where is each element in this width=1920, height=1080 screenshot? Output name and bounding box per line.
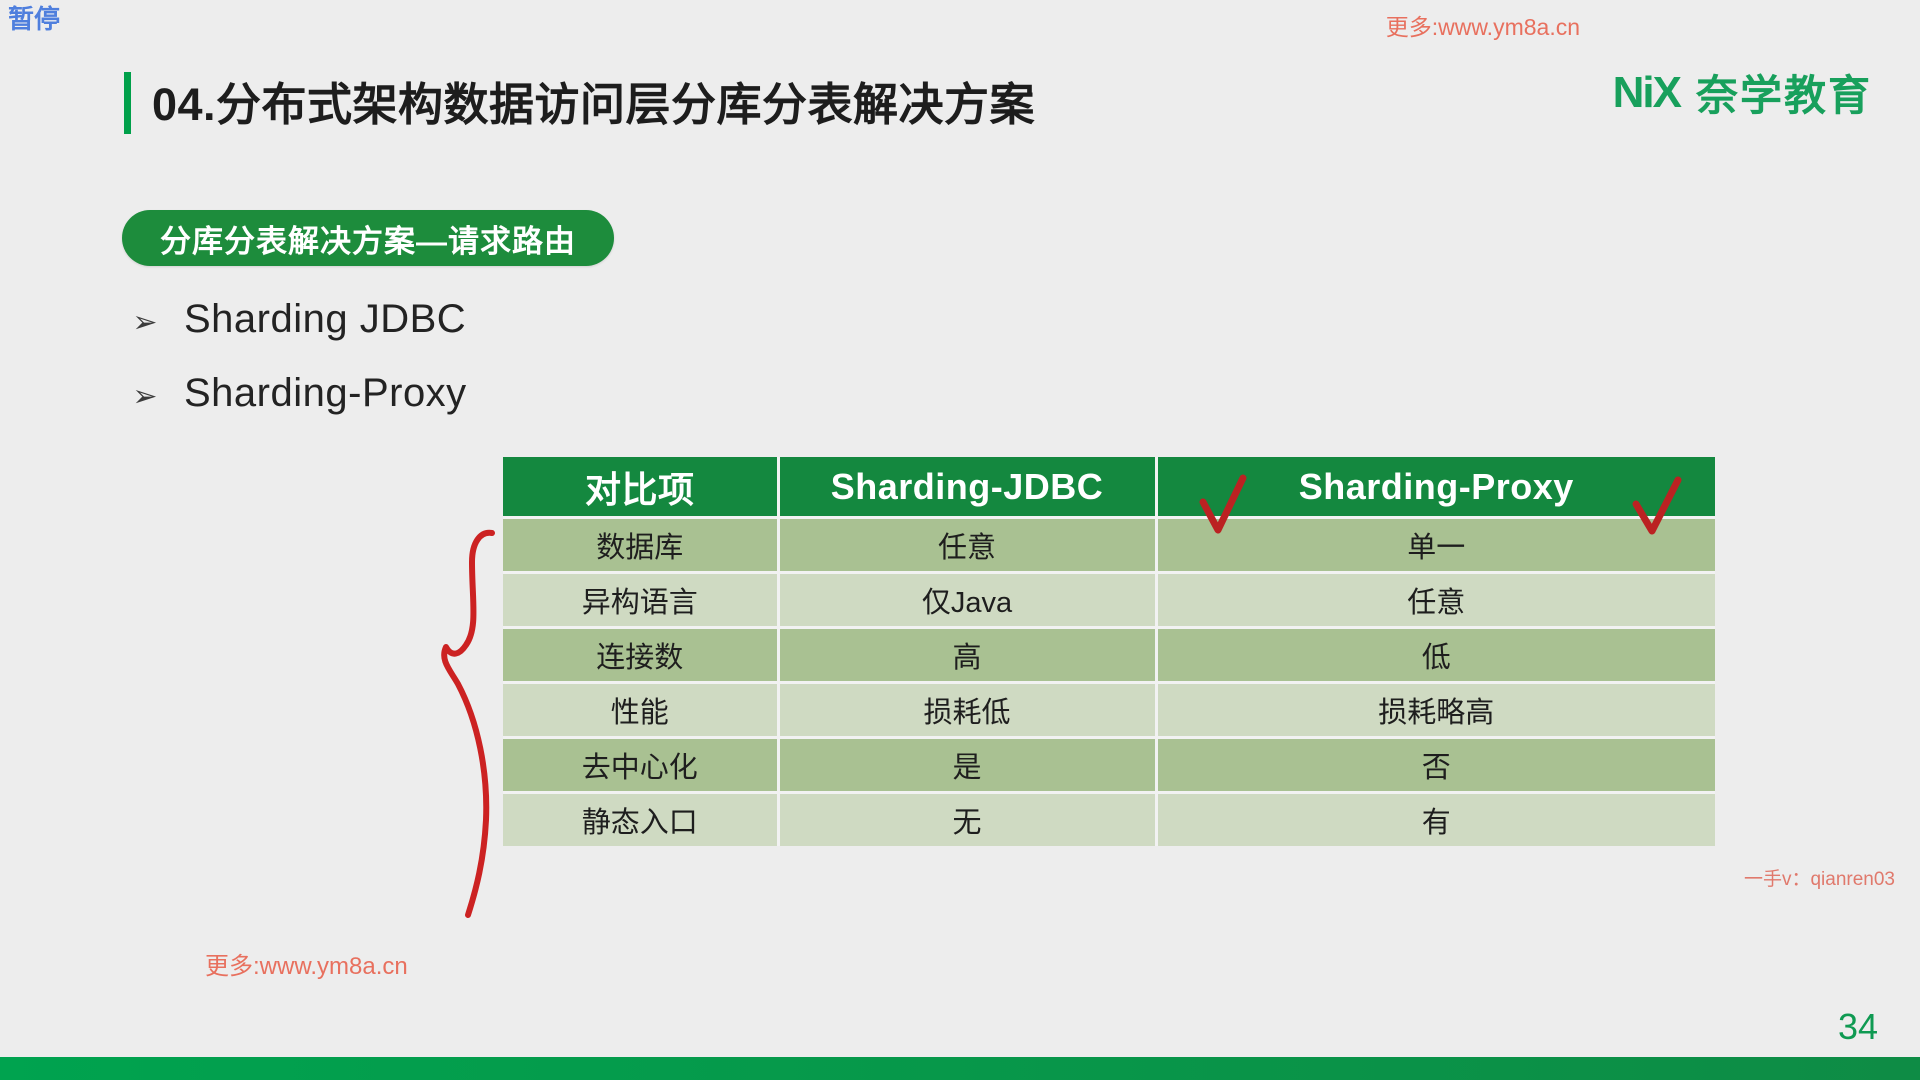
table-cell-proxy: 低 xyxy=(1156,628,1715,683)
column-header-jdbc: Sharding-JDBC xyxy=(778,457,1156,518)
table-header-row: 对比项 Sharding-JDBC Sharding-Proxy xyxy=(503,457,1715,518)
table-row: 去中心化 是 否 xyxy=(503,738,1715,793)
comparison-table: 对比项 Sharding-JDBC Sharding-Proxy 数据库 任意 … xyxy=(503,457,1715,846)
table-cell-label: 连接数 xyxy=(503,628,778,683)
page-number: 34 xyxy=(1838,1006,1878,1048)
red-curly-brace-annotation xyxy=(444,533,492,915)
list-item-label: Sharding JDBC xyxy=(184,282,466,356)
table-cell-proxy: 否 xyxy=(1156,738,1715,793)
table-cell-jdbc: 仅Java xyxy=(778,573,1156,628)
table-cell-label: 异构语言 xyxy=(503,573,778,628)
table-cell-jdbc: 任意 xyxy=(778,518,1156,573)
section-badge-label: 分库分表解决方案—请求路由 xyxy=(160,216,576,261)
column-header-proxy: Sharding-Proxy xyxy=(1156,457,1715,518)
section-badge: 分库分表解决方案—请求路由 xyxy=(122,210,614,266)
table-cell-proxy: 有 xyxy=(1156,793,1715,847)
table-cell-proxy: 任意 xyxy=(1156,573,1715,628)
arrow-bullet-icon: ➢ xyxy=(130,286,160,360)
column-header-item: 对比项 xyxy=(503,457,778,518)
table-cell-label: 静态入口 xyxy=(503,793,778,847)
footer-bar xyxy=(0,1057,1920,1080)
table-cell-jdbc: 高 xyxy=(778,628,1156,683)
table-cell-proxy: 损耗略高 xyxy=(1156,683,1715,738)
table-cell-label: 性能 xyxy=(503,683,778,738)
arrow-bullet-icon: ➢ xyxy=(130,360,160,434)
title-accent-bar xyxy=(124,72,131,134)
table-cell-jdbc: 是 xyxy=(778,738,1156,793)
slide-canvas: 暂停 更多:www.ym8a.cn 04.分布式架构数据访问层分库分表解决方案 … xyxy=(0,0,1920,1080)
table-cell-proxy: 单一 xyxy=(1156,518,1715,573)
brand-logo: NiX 奈学教育 xyxy=(1613,62,1872,123)
logo-mark-icon: NiX xyxy=(1613,68,1680,118)
list-item-label: Sharding-Proxy xyxy=(184,356,467,430)
table-row: 异构语言 仅Java 任意 xyxy=(503,573,1715,628)
pause-watermark: 暂停 xyxy=(8,6,60,32)
top-url-watermark: 更多:www.ym8a.cn xyxy=(1386,8,1580,42)
table-cell-label: 数据库 xyxy=(503,518,778,573)
list-item: ➢ Sharding JDBC xyxy=(130,282,467,356)
handle-watermark: 一手v：qianren03 xyxy=(1744,864,1895,891)
table-row: 连接数 高 低 xyxy=(503,628,1715,683)
table-row: 数据库 任意 单一 xyxy=(503,518,1715,573)
table-cell-label: 去中心化 xyxy=(503,738,778,793)
page-title: 04.分布式架构数据访问层分库分表解决方案 xyxy=(152,68,1035,133)
table-cell-jdbc: 无 xyxy=(778,793,1156,847)
table-row: 静态入口 无 有 xyxy=(503,793,1715,847)
bullet-list: ➢ Sharding JDBC ➢ Sharding-Proxy xyxy=(130,282,467,430)
bottom-url-watermark: 更多:www.ym8a.cn xyxy=(205,946,408,981)
table-cell-jdbc: 损耗低 xyxy=(778,683,1156,738)
list-item: ➢ Sharding-Proxy xyxy=(130,356,467,430)
table-row: 性能 损耗低 损耗略高 xyxy=(503,683,1715,738)
logo-name: 奈学教育 xyxy=(1696,62,1872,123)
